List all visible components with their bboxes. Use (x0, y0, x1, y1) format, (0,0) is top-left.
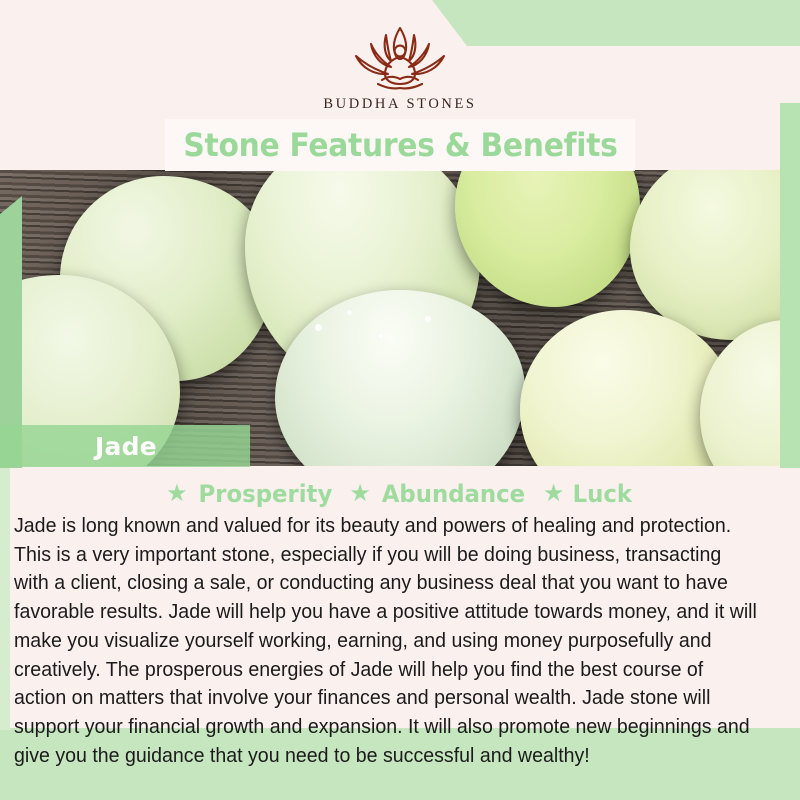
benefit-item-abundance: ★ Abundance (349, 480, 528, 508)
section-title-banner: Stone Features & Benefits (165, 119, 635, 171)
lotus-meditation-icon (338, 22, 462, 94)
star-icon: ★ (166, 482, 188, 506)
star-icon: ★ (349, 482, 371, 506)
benefits-row: ★ Prosperity ★ Abundance ★ Luck (0, 478, 800, 510)
benefit-item-luck: ★ Luck (543, 480, 634, 508)
benefit-label: Prosperity (198, 480, 332, 508)
brand-logo: BUDDHA STONES (0, 22, 800, 120)
stone-sparkle (379, 334, 383, 338)
jade-stones-photo (0, 170, 800, 466)
right-green-accent (780, 103, 800, 468)
stone-name-label: Jade (95, 432, 157, 461)
star-icon: ★ (543, 482, 565, 506)
benefit-label: Luck (573, 480, 632, 508)
stone-sparkle (425, 316, 431, 322)
stone-sparkle (347, 310, 352, 315)
page-title: Stone Features & Benefits (183, 126, 617, 164)
stone-description: Jade is long known and valued for its be… (14, 512, 757, 770)
stone-sparkle (315, 324, 322, 331)
benefit-label: Abundance (382, 480, 525, 508)
benefit-item-prosperity: ★ Prosperity (166, 480, 335, 508)
brand-name: BUDDHA STONES (323, 96, 476, 113)
stone-name-band: Jade (0, 425, 250, 467)
